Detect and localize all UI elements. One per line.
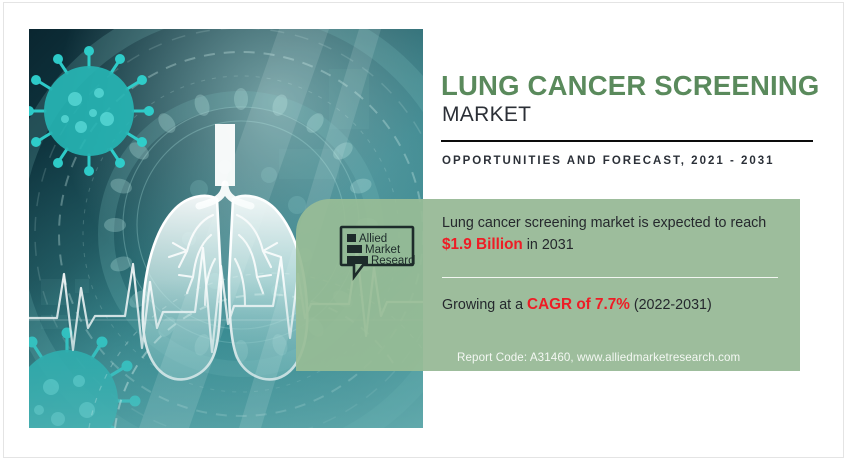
stat-2-suffix: (2022-2031): [630, 297, 712, 313]
stat-2-highlight: CAGR of 7.7%: [527, 296, 630, 313]
stat-market-value: Lung cancer screening market is expected…: [442, 213, 782, 257]
stat-1-highlight: $1.9 Billion: [442, 236, 523, 253]
speech-bubble-logo-icon: Allied Market Research: [339, 225, 415, 281]
allied-market-research-logo: Allied Market Research: [339, 225, 415, 281]
forecast-kicker: OPPORTUNITIES AND FORECAST, 2021 - 2031: [442, 153, 802, 171]
stat-1-suffix: in 2031: [523, 237, 574, 253]
page-subtitle: MARKET: [442, 104, 531, 125]
stat-cagr: Growing at a CAGR of 7.7% (2022-2031): [442, 294, 782, 317]
infographic-page: LUNG CANCER SCREENING MARKET OPPORTUNITI…: [0, 0, 847, 470]
page-title: LUNG CANCER SCREENING: [441, 72, 820, 100]
logo-line-3: Research: [371, 255, 415, 267]
stat-1-prefix: Lung cancer screening market is expected…: [442, 215, 766, 231]
report-code-line: Report Code: A31460, www.alliedmarketres…: [457, 351, 740, 364]
stats-inner-divider: [442, 277, 778, 278]
title-divider: [441, 140, 813, 142]
stat-2-prefix: Growing at a: [442, 297, 527, 313]
